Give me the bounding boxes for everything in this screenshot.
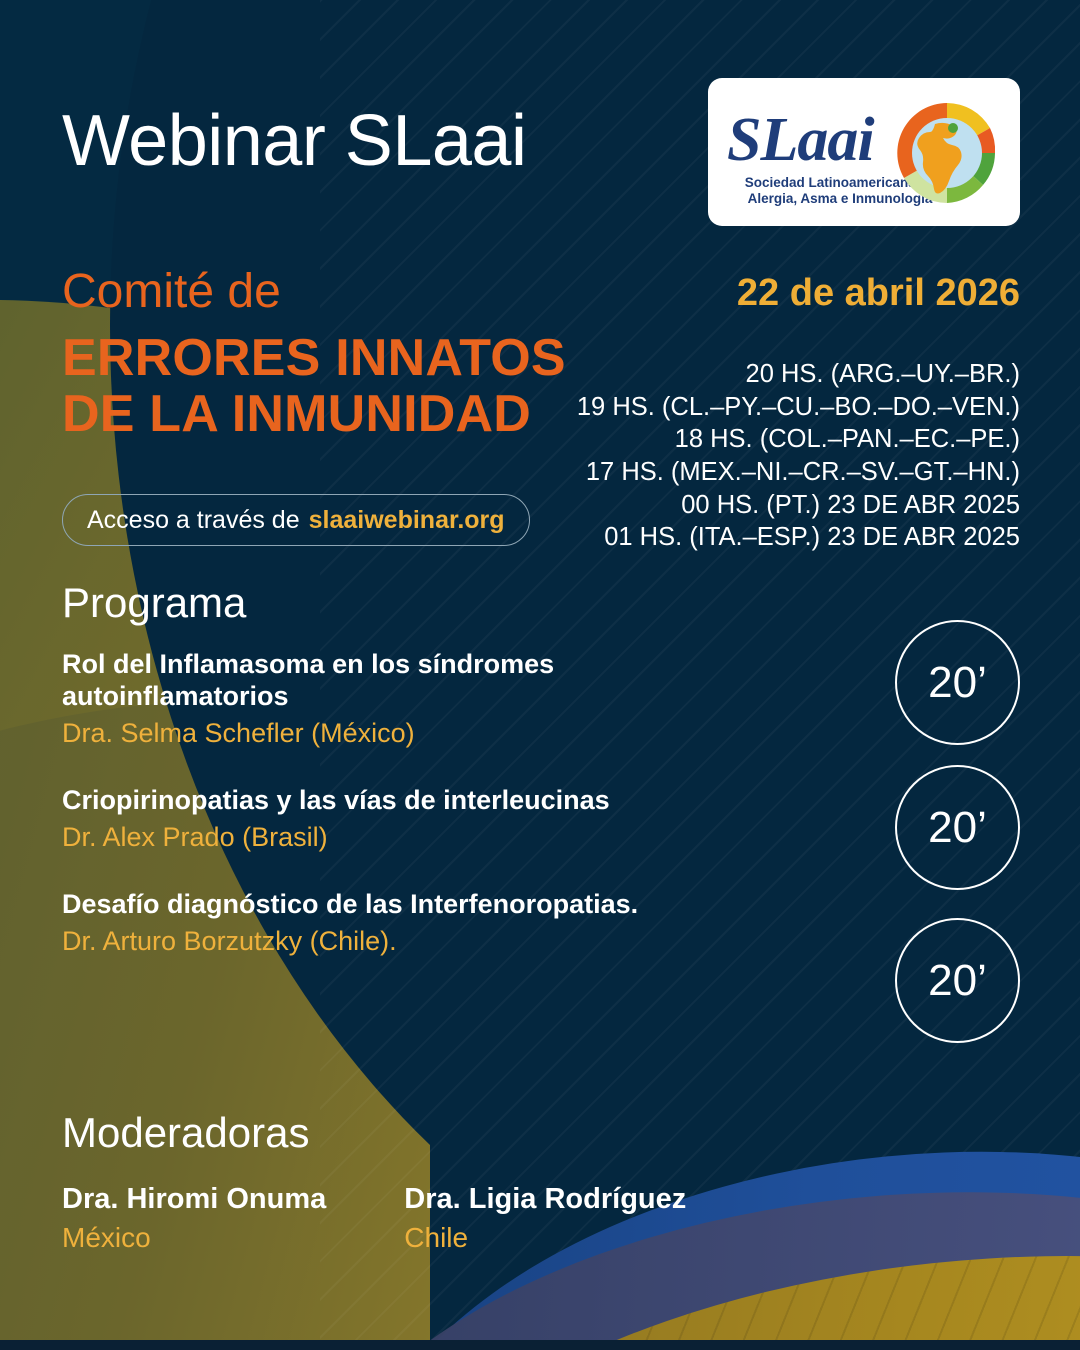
globe-americas-icon bbox=[891, 97, 1003, 209]
moderator-item: Dra. Ligia RodríguezChile bbox=[404, 1182, 686, 1255]
timezone-line: 20 HS. (ARG.–UY.–BR.) bbox=[577, 358, 1020, 391]
talk-item: Criopirinopatias y las vías de interleuc… bbox=[62, 784, 762, 854]
timezone-line: 18 HS. (COL.–PAN.–EC.–PE.) bbox=[577, 423, 1020, 456]
talk-speaker: Dr. Arturo Borzutzky (Chile). bbox=[62, 924, 762, 959]
timezone-line: 17 HS. (MEX.–NI.–CR.–SV.–GT.–HN.) bbox=[577, 456, 1020, 489]
logo-wordmark: SLaai bbox=[727, 105, 874, 176]
moderator-country: Chile bbox=[404, 1220, 686, 1255]
talk-title: Criopirinopatias y las vías de interleuc… bbox=[62, 784, 762, 816]
page-title: Webinar SLaai bbox=[62, 105, 526, 177]
talk-title: Desafío diagnóstico de las Interfenoropa… bbox=[62, 888, 762, 920]
slaai-logo: SLaai Sociedad Latinoamericana de Alergi… bbox=[708, 78, 1020, 226]
timezone-line: 01 HS. (ITA.–ESP.) 23 DE ABR 2025 bbox=[577, 521, 1020, 554]
section-heading-moderadoras: Moderadoras bbox=[62, 1112, 309, 1154]
talk-speaker: Dr. Alex Prado (Brasil) bbox=[62, 820, 762, 855]
access-label: Acceso a través de bbox=[87, 506, 300, 535]
moderator-name: Dra. Hiromi Onuma bbox=[62, 1182, 326, 1216]
timezone-list: 20 HS. (ARG.–UY.–BR.)19 HS. (CL.–PY.–CU.… bbox=[577, 358, 1020, 554]
committee-name-line: DE LA INMUNIDAD bbox=[62, 386, 566, 442]
duration-badge: 20’ bbox=[895, 765, 1020, 890]
talk-title: Rol del Inflamasoma en los síndromes aut… bbox=[62, 648, 762, 713]
moderator-country: México bbox=[62, 1220, 326, 1255]
section-heading-programa: Programa bbox=[62, 582, 246, 624]
talk-speaker: Dra. Selma Schefler (México) bbox=[62, 716, 762, 751]
timezone-line: 00 HS. (PT.) 23 DE ABR 2025 bbox=[577, 489, 1020, 522]
duration-badge: 20’ bbox=[895, 620, 1020, 745]
moderator-list: Dra. Hiromi OnumaMéxicoDra. Ligia Rodríg… bbox=[62, 1182, 686, 1255]
moderator-item: Dra. Hiromi OnumaMéxico bbox=[62, 1182, 326, 1255]
committee-name-line: ERRORES INNATOS bbox=[62, 330, 566, 386]
event-date: 22 de abril 2026 bbox=[737, 272, 1020, 315]
talk-item: Desafío diagnóstico de las Interfenoropa… bbox=[62, 888, 762, 958]
access-link-pill[interactable]: Acceso a través de slaaiwebinar.org bbox=[62, 494, 530, 546]
timezone-line: 19 HS. (CL.–PY.–CU.–BO.–DO.–VEN.) bbox=[577, 391, 1020, 424]
webinar-poster: Webinar SLaai SLaai Sociedad Latinoameri… bbox=[0, 0, 1080, 1350]
committee-name: ERRORES INNATOSDE LA INMUNIDAD bbox=[62, 330, 566, 442]
duration-badge: 20’ bbox=[895, 918, 1020, 1043]
talk-list: Rol del Inflamasoma en los síndromes aut… bbox=[62, 648, 762, 992]
talk-item: Rol del Inflamasoma en los síndromes aut… bbox=[62, 648, 762, 750]
committee-prefix: Comité de bbox=[62, 268, 281, 316]
access-url[interactable]: slaaiwebinar.org bbox=[309, 506, 505, 535]
moderator-name: Dra. Ligia Rodríguez bbox=[404, 1182, 686, 1216]
